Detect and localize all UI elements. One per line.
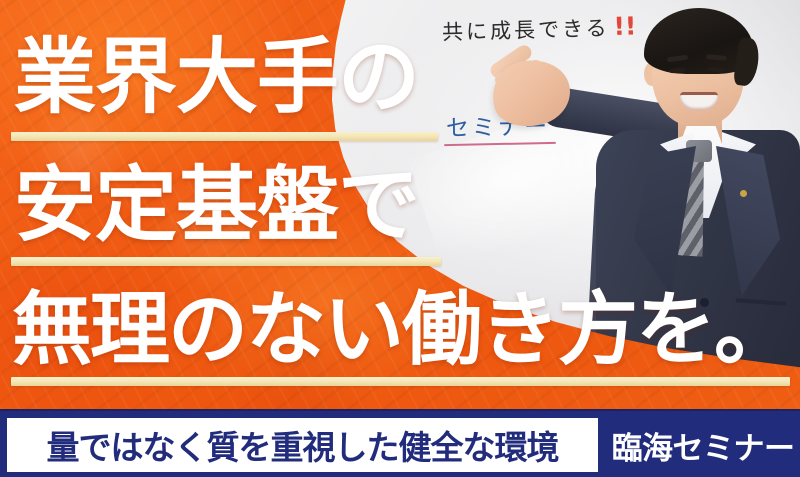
headline-line-1: 業界大手の [14,30,419,126]
footer-tagline: 量ではなく質を重視した健全な環境 [47,421,559,469]
headline-line-2: 安定基盤で [14,158,419,254]
headline-rule-1 [11,132,438,141]
footer-bar: 量ではなく質を重視した健全な環境 臨海セミナー [0,409,800,477]
footer-brand: 臨海セミナー [612,418,794,472]
recruitment-banner: 共に成長できる!! セミナー [0,0,800,477]
headline-rule-2 [11,257,441,266]
headline-rule-3 [11,377,790,386]
headline-line-3: 無理のない働き方を。 [12,283,792,377]
footer-tagline-box: 量ではなく質を重視した健全な環境 [7,418,598,472]
headline-block: 業界大手の 安定基盤で 無理のない働き方を。 [0,0,800,410]
